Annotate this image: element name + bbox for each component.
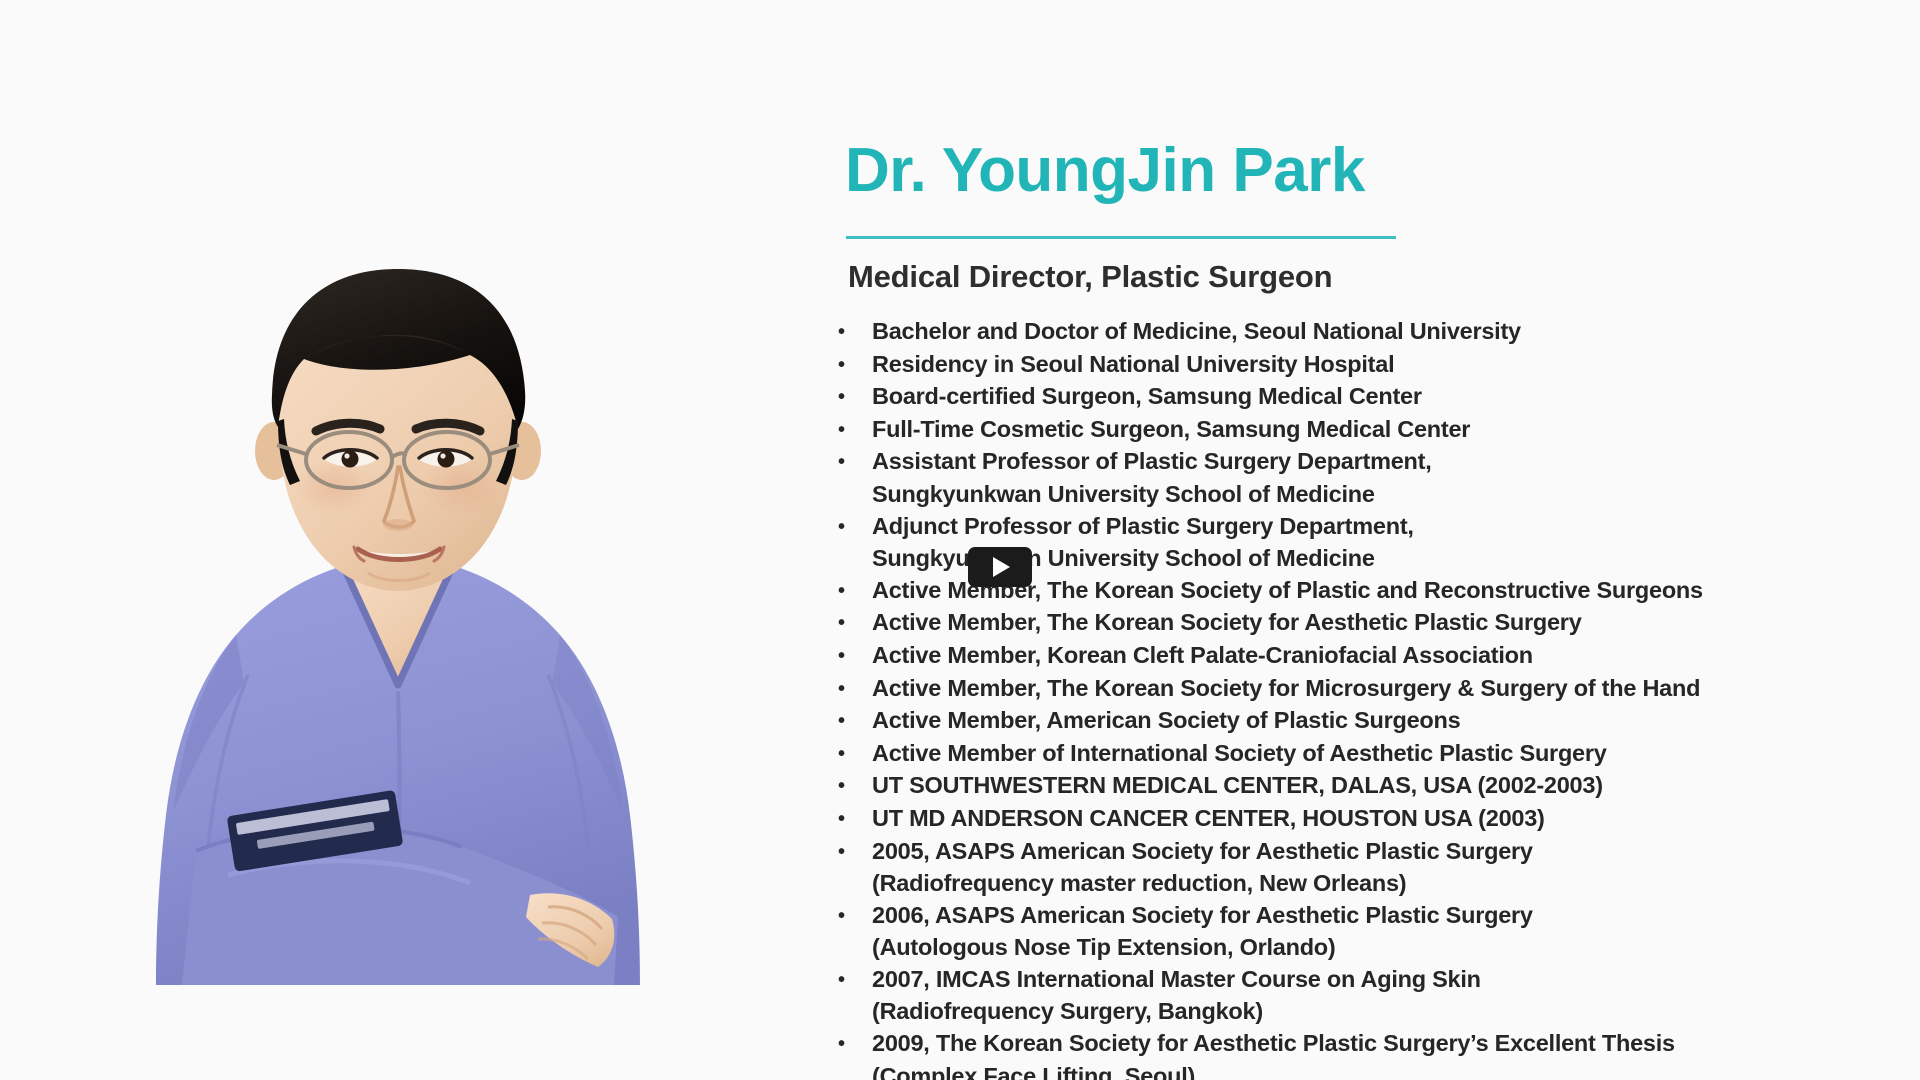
list-item: UT SOUTHWESTERN MEDICAL CENTER, DALAS, U…	[836, 770, 1920, 803]
list-item: Active Member, American Society of Plast…	[836, 705, 1920, 738]
list-item: UT MD ANDERSON CANCER CENTER, HOUSTON US…	[836, 803, 1920, 836]
portrait-pane	[0, 0, 836, 1080]
info-pane: Dr. YoungJin Park Medical Director, Plas…	[836, 0, 1920, 1080]
list-item: Active Member, The Korean Society for Ae…	[836, 607, 1920, 640]
list-item: Active Member, Korean Cleft Palate-Crani…	[836, 640, 1920, 673]
list-item: Bachelor and Doctor of Medicine, Seoul N…	[836, 316, 1920, 349]
list-item: 2006, ASAPS American Society for Aesthet…	[836, 900, 1920, 964]
list-item: 2009, The Korean Society for Aesthetic P…	[836, 1028, 1920, 1080]
profile-slide: Dr. YoungJin Park Medical Director, Plas…	[0, 0, 1920, 1080]
doctor-role-subtitle: Medical Director, Plastic Surgeon	[848, 258, 1332, 295]
list-item: 2007, IMCAS International Master Course …	[836, 964, 1920, 1028]
play-triangle-icon	[993, 557, 1010, 577]
list-item: Active Member of International Society o…	[836, 738, 1920, 771]
list-item: Full-Time Cosmetic Surgeon, Samsung Medi…	[836, 414, 1920, 447]
list-item: 2005, ASAPS American Society for Aesthet…	[836, 836, 1920, 900]
page-title: Dr. YoungJin Park	[845, 140, 1365, 202]
portrait-illustration	[78, 255, 718, 985]
credentials-list: Bachelor and Doctor of Medicine, Seoul N…	[836, 316, 1920, 1080]
doctor-portrait-image	[78, 255, 718, 985]
list-item: Assistant Professor of Plastic Surgery D…	[836, 446, 1920, 510]
list-item: Active Member, The Korean Society for Mi…	[836, 673, 1920, 706]
video-play-button[interactable]	[968, 547, 1032, 587]
list-item: Residency in Seoul National University H…	[836, 349, 1920, 382]
title-underline-divider	[846, 236, 1396, 239]
list-item: Board-certified Surgeon, Samsung Medical…	[836, 381, 1920, 414]
